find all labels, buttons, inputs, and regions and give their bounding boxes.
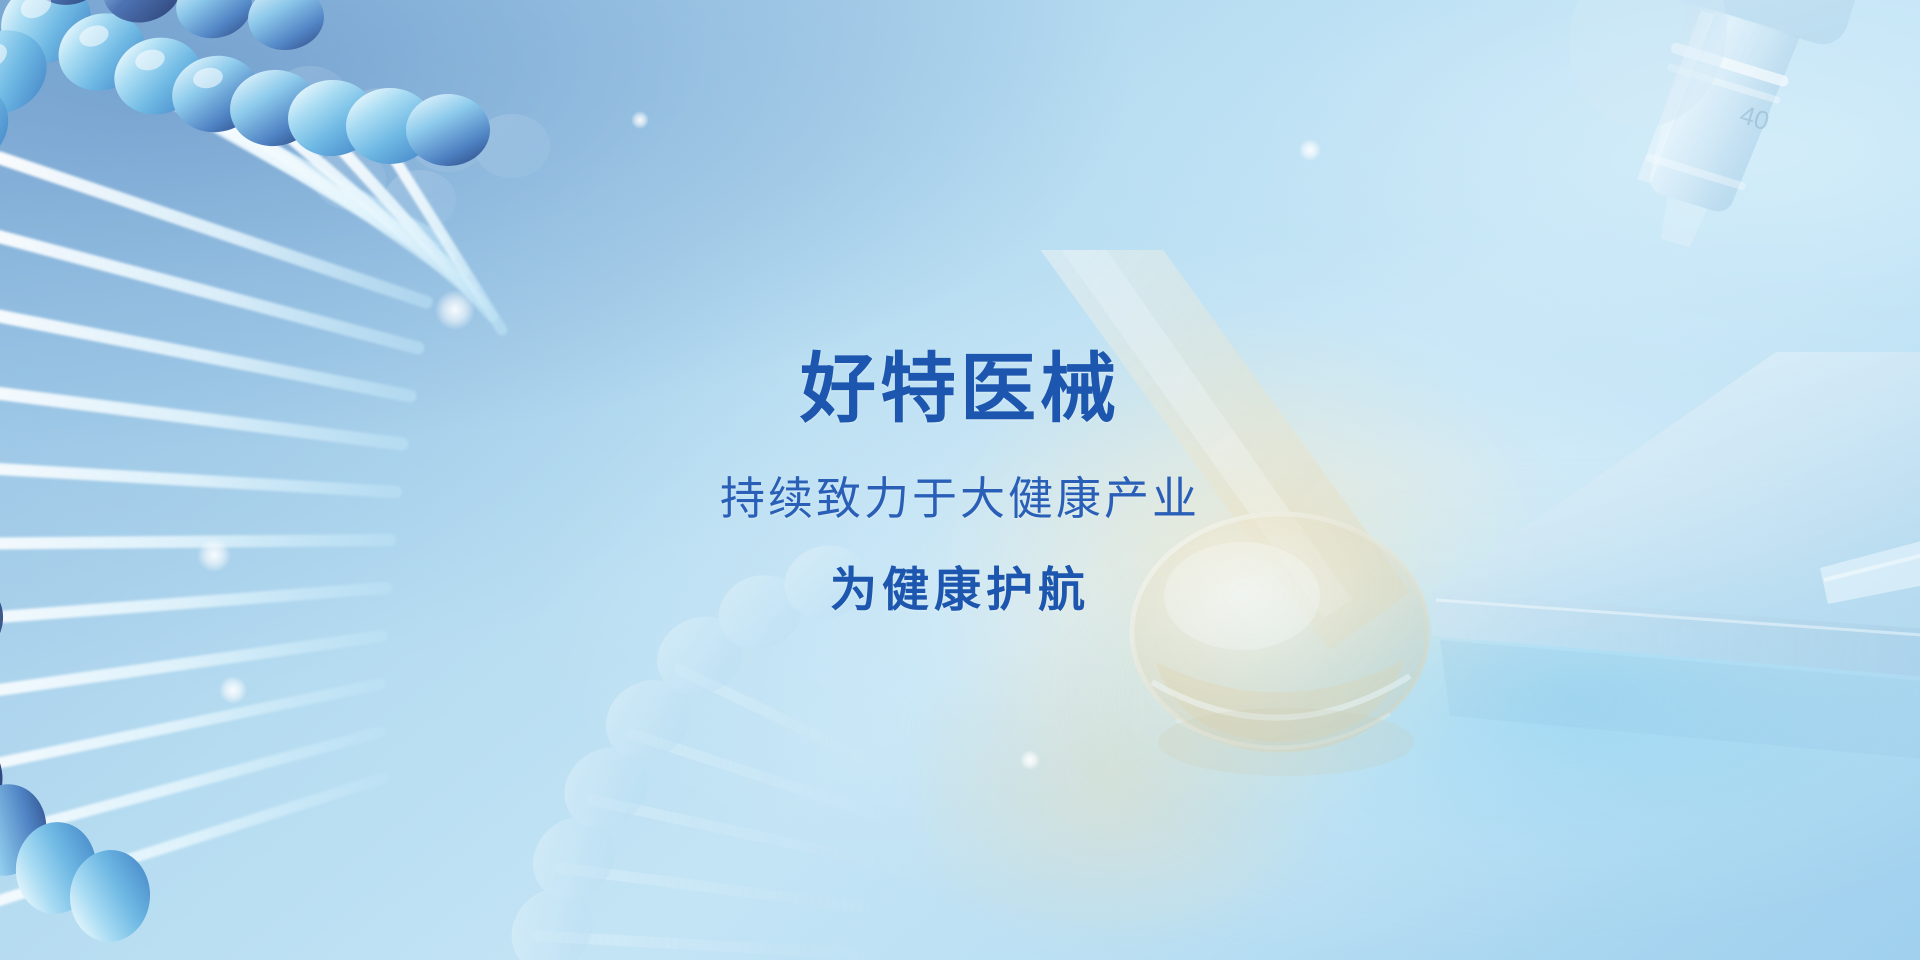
hero-tagline: 为健康护航 bbox=[0, 566, 1920, 613]
hero-text-block: 好特医械 持续致力于大健康产业 为健康护航 bbox=[0, 352, 1920, 613]
hero-subtitle: 持续致力于大健康产业 bbox=[0, 476, 1920, 521]
page-title: 好特医械 bbox=[0, 352, 1920, 428]
hero-banner: 40 bbox=[0, 0, 1920, 960]
